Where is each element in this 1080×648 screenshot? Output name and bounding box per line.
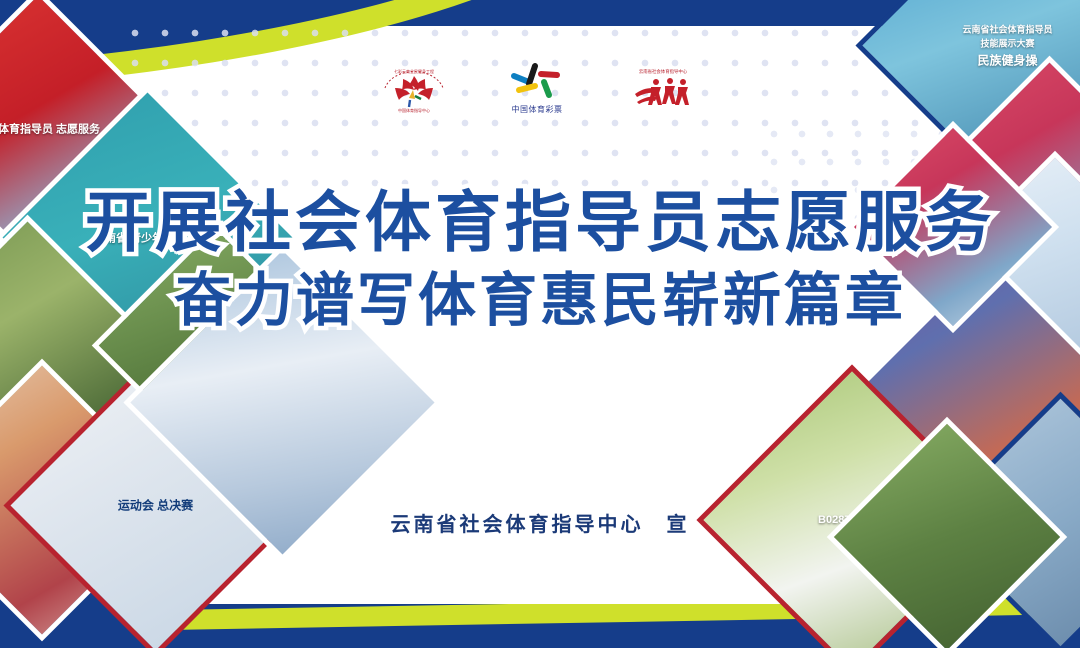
svg-text:中国体育指导中心: 中国体育指导中心 [398, 107, 430, 113]
logo-national-fitness-program: 七彩云南全民健身工程 中国体育指导中心 [377, 64, 451, 114]
photo-caption: 社会体育指导员 志愿服务 [0, 120, 104, 141]
logo-caption: 中国体育彩票 [512, 104, 563, 115]
photo-caption: 云南省 青少年 Sports [90, 227, 205, 248]
svg-text:七彩云南全民健身工程: 七彩云南全民健身工程 [394, 68, 434, 74]
poster-canvas: 社会体育指导员 志愿服务 云南省 青少年 Sports 运动会 总决赛 云南省社… [0, 0, 1080, 648]
fitness-flower-icon: 七彩云南全民健身工程 中国体育指导中心 [377, 64, 451, 114]
svg-text:云南省社会体育指导中心: 云南省社会体育指导中心 [639, 68, 688, 75]
sports-lottery-icon [509, 62, 565, 102]
running-people-icon: 云南省社会体育指导中心 [623, 64, 703, 114]
banner-line-2: 技能展示大赛 [962, 36, 1052, 50]
logo-yunnan-sports-lottery-welfare: 云南省社会体育指导中心 [623, 64, 703, 114]
logo-china-sports-lottery: 中国体育彩票 [509, 62, 565, 115]
logo-row: 七彩云南全民健身工程 中国体育指导中心 中国体育彩票 云南省社会体育指导中心 [0, 62, 1080, 115]
publisher-credit: 云南省社会体育指导中心 宣 [0, 508, 1080, 537]
banner-line-1: 云南省社会体育指导员 [962, 22, 1052, 36]
